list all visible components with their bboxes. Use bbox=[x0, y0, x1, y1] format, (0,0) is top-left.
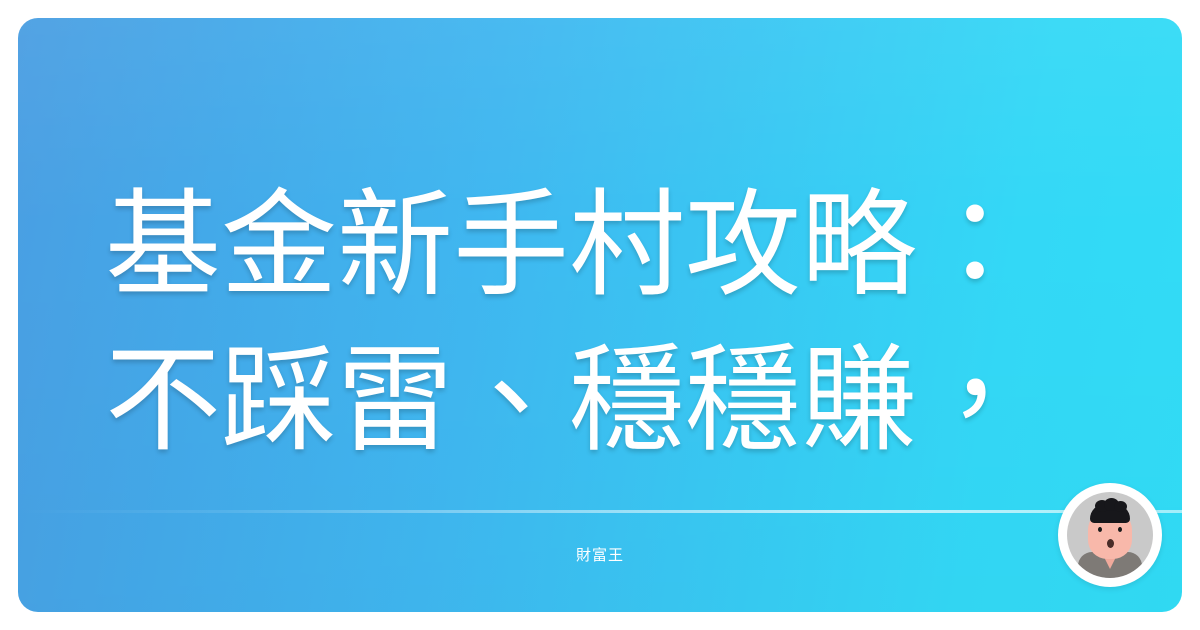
avatar-mouth bbox=[1107, 539, 1114, 548]
headline-line-2: 不踩雷、穩穩賺， bbox=[105, 323, 1182, 478]
footer-divider bbox=[18, 510, 1182, 513]
avatar-photo bbox=[1067, 492, 1153, 578]
avatar-eye-left bbox=[1098, 527, 1102, 532]
avatar-eye-right bbox=[1118, 527, 1122, 532]
avatar[interactable] bbox=[1058, 483, 1162, 587]
headline: 基金新手村攻略： 不踩雷、穩穩賺， bbox=[105, 168, 1182, 478]
headline-line-1: 基金新手村攻略： bbox=[105, 168, 1182, 323]
share-card: 基金新手村攻略： 不踩雷、穩穩賺， 財富王 bbox=[18, 18, 1182, 612]
byline: 財富王 bbox=[18, 544, 1182, 565]
avatar-hair-tuft-right bbox=[1114, 501, 1127, 512]
